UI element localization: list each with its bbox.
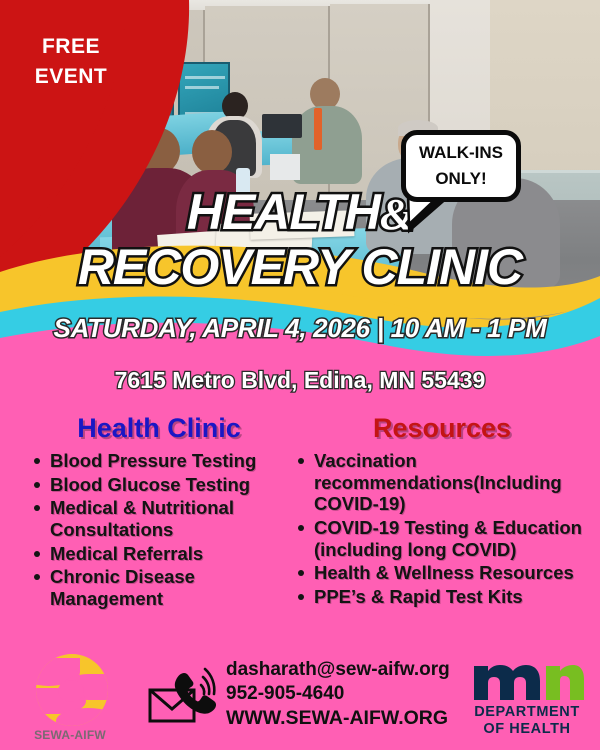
health-clinic-heading: Health Clinic [28, 413, 290, 444]
list-item: Medical & Nutritional Consultations [28, 497, 290, 540]
resources-heading: Resources [292, 413, 592, 444]
sewa-logo-icon [36, 654, 108, 726]
mdh-label-line-2: OF HEALTH [468, 721, 586, 738]
mdh-label-line-1: DEPARTMENT [468, 704, 586, 721]
list-item: Blood Glucose Testing [28, 474, 290, 496]
list-item: Chronic Disease Management [28, 566, 290, 609]
health-clinic-list: Blood Pressure Testing Blood Glucose Tes… [28, 450, 290, 609]
flyer-footer: SEWA-AIFW dasharath@sew-aifw.org 952-905… [0, 648, 600, 750]
resources-column: Resources Vaccination recommendations(In… [292, 413, 592, 609]
list-item: Medical Referrals [28, 543, 290, 565]
contact-email[interactable]: dasharath@sew-aifw.org [226, 658, 466, 682]
free-event-badge: FREE EVENT [16, 32, 126, 93]
event-address: 7615 Metro Blvd, Edina, MN 55439 [0, 367, 600, 394]
contact-phone[interactable]: 952-905-4640 [226, 682, 466, 706]
sewa-logo-label: SEWA-AIFW [28, 728, 112, 742]
list-item: PPE’s & Rapid Test Kits [292, 586, 592, 608]
list-item: Vaccination recommendations(Including CO… [292, 450, 592, 515]
list-item: Blood Pressure Testing [28, 450, 290, 472]
mdh-wordmark-icon [472, 654, 584, 702]
list-item: COVID-19 Testing & Education (including … [292, 517, 592, 560]
resources-list: Vaccination recommendations(Including CO… [292, 450, 592, 607]
mdh-label: DEPARTMENT OF HEALTH [468, 704, 586, 738]
event-datetime: SATURDAY, APRIL 4, 2026 | 10 AM - 1 PM [0, 313, 600, 344]
mdh-logo: DEPARTMENT OF HEALTH [468, 654, 586, 746]
health-clinic-column: Health Clinic Blood Pressure Testing Blo… [28, 413, 290, 611]
contact-website[interactable]: WWW.SEWA-AIFW.ORG [226, 706, 466, 731]
flyer-title: HEALTH& RECOVERY CLINIC [0, 186, 600, 295]
flyer-canvas: FREE EVENT HEALTH& RECOVERY CLINIC SATUR… [0, 0, 600, 750]
list-item: Health & Wellness Resources [292, 562, 592, 584]
walkins-speech-bubble: WALK-INS ONLY! [401, 130, 521, 202]
contact-details: dasharath@sew-aifw.org 952-905-4640 WWW.… [226, 658, 466, 730]
badge-line-1: FREE [16, 32, 126, 62]
contact-icons [148, 664, 218, 726]
signal-waves-icon [201, 669, 214, 694]
title-word-health: HEALTH [187, 184, 380, 240]
sewa-logo: SEWA-AIFW [28, 654, 112, 748]
bubble-line-2: ONLY! [435, 166, 486, 192]
badge-line-2: EVENT [16, 62, 126, 92]
title-line-2: RECOVERY CLINIC [0, 239, 600, 295]
bubble-line-1: WALK-INS [419, 140, 503, 166]
